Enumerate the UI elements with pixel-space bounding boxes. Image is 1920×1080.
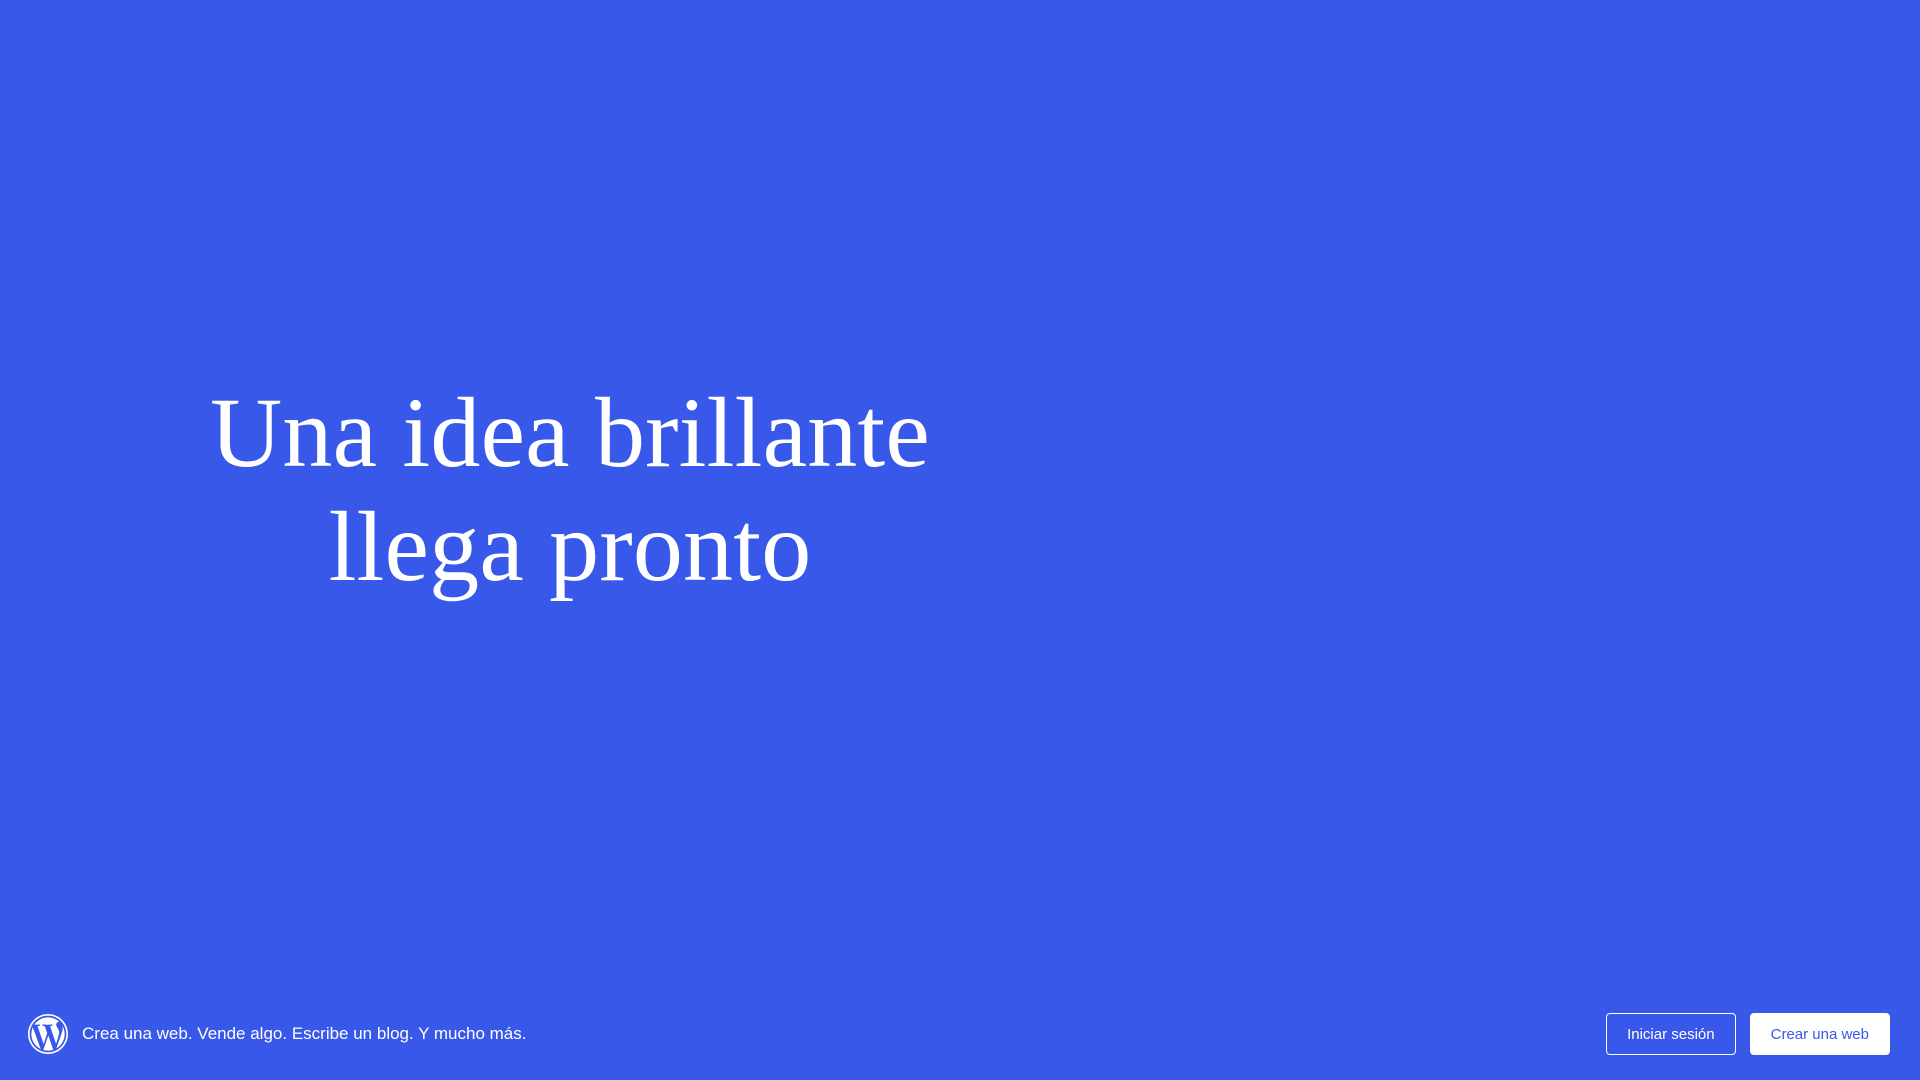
wordpress-logo-icon (28, 1014, 68, 1054)
footer-bar: Crea una web. Vende algo. Escribe un blo… (0, 988, 1920, 1080)
footer-actions: Iniciar sesión Crear una web (1606, 1013, 1890, 1055)
coming-soon-page: Una idea brillante llega pronto Crea una… (0, 0, 1920, 1080)
footer-tagline: Crea una web. Vende algo. Escribe un blo… (82, 1022, 526, 1046)
hero-section: Una idea brillante llega pronto (0, 0, 1920, 988)
login-button[interactable]: Iniciar sesión (1606, 1013, 1736, 1055)
create-site-button[interactable]: Crear una web (1750, 1013, 1890, 1055)
page-title: Una idea brillante llega pronto (190, 376, 950, 604)
footer-branding: Crea una web. Vende algo. Escribe un blo… (28, 1014, 526, 1054)
